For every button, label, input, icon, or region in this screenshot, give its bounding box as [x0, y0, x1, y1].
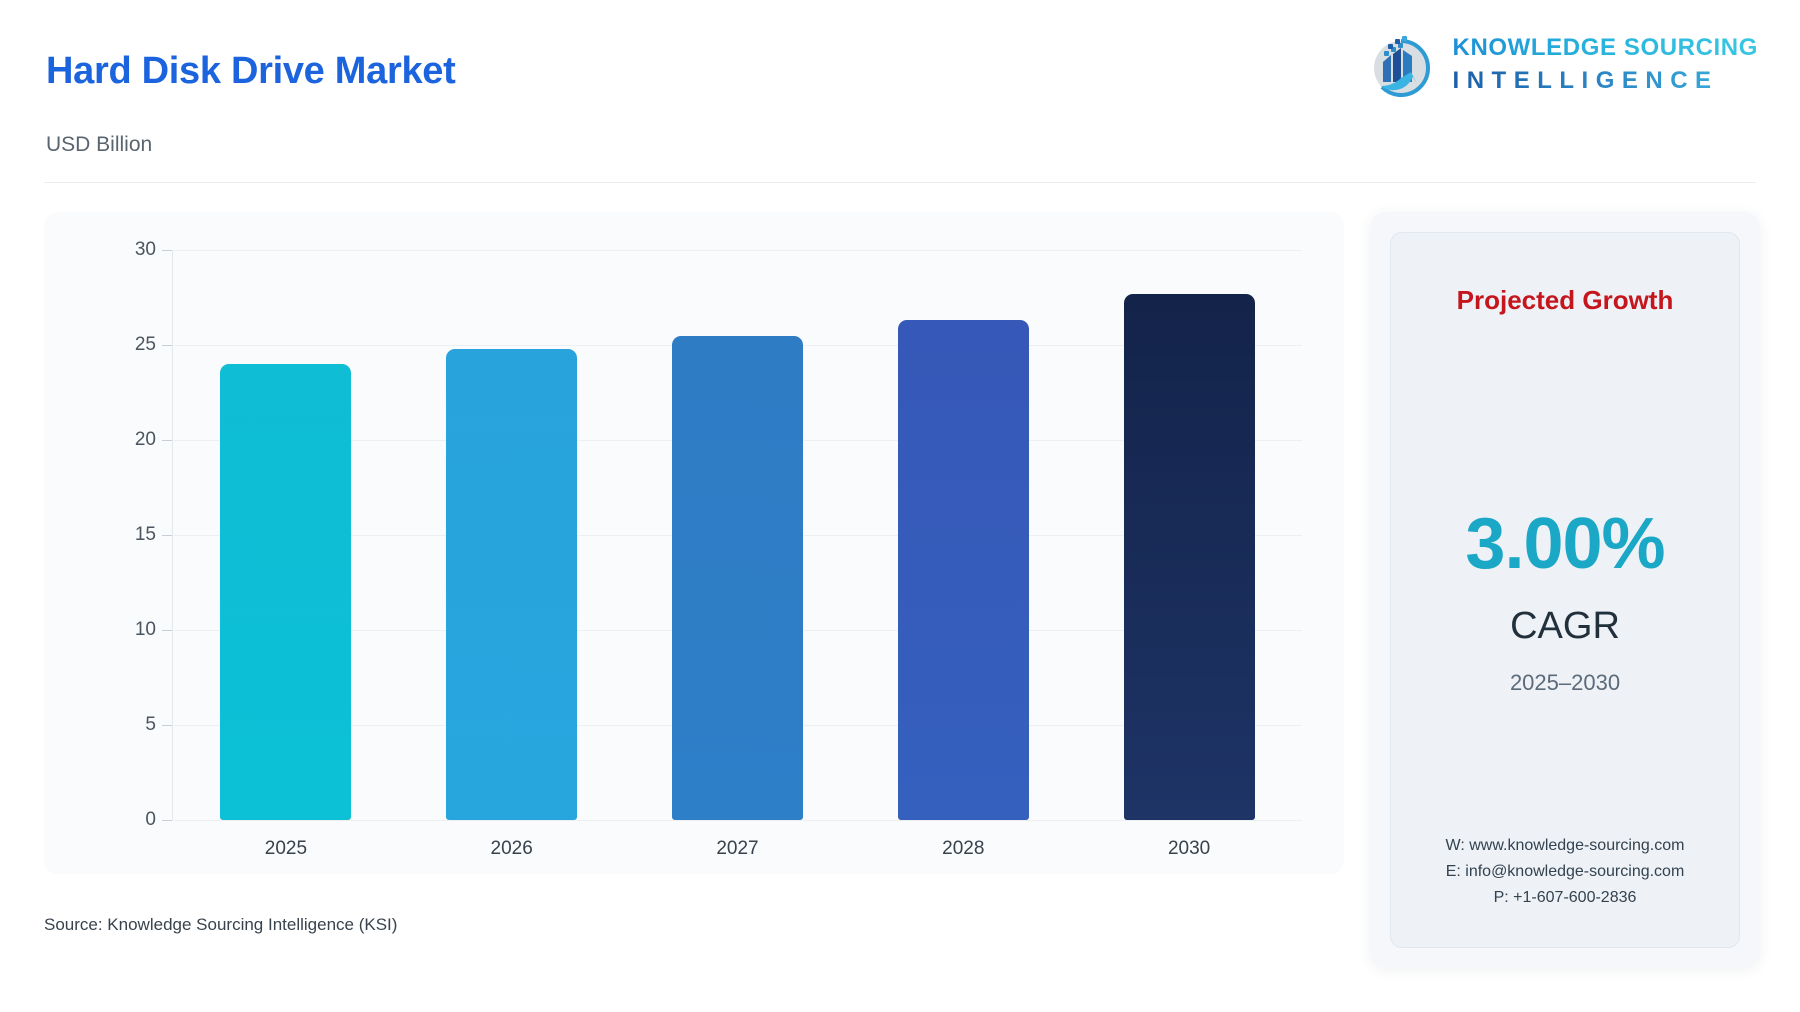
header-divider [44, 182, 1756, 183]
projected-growth-panel: Projected Growth 3.00% CAGR 2025–2030 W:… [1370, 212, 1760, 968]
y-tick-label: 30 [110, 239, 156, 261]
logo-wordmark: KNOWLEDGE SOURCING INTELLIGENCE [1453, 36, 1758, 93]
panel-title: Projected Growth [1391, 285, 1739, 316]
source-note: Source: Knowledge Sourcing Intelligence … [44, 915, 397, 935]
panel-inner-card: Projected Growth 3.00% CAGR 2025–2030 W:… [1390, 232, 1740, 948]
y-tick-label: 10 [110, 619, 156, 641]
contact-phone[interactable]: P: +1-607-600-2836 [1391, 885, 1739, 911]
x-axis-label-2025: 2025 [173, 838, 399, 860]
y-tick-mark [162, 250, 172, 251]
y-tick-label: 5 [110, 714, 156, 736]
bar-slot: 2028 [850, 250, 1076, 820]
logo-line-intelligence: INTELLIGENCE [1453, 69, 1758, 93]
cagr-label: CAGR [1391, 605, 1739, 648]
page-title: Hard Disk Drive Market [46, 50, 455, 93]
x-axis-label-2030: 2030 [1076, 838, 1302, 860]
bar-2030[interactable] [1124, 294, 1255, 820]
x-axis-label-2028: 2028 [850, 838, 1076, 860]
contact-email[interactable]: E: info@knowledge-sourcing.com [1391, 859, 1739, 885]
header: Hard Disk Drive Market USD Billion [0, 0, 1800, 190]
bar-slot: 2026 [399, 250, 625, 820]
y-tick-mark [162, 535, 172, 536]
cagr-value: 3.00% [1391, 503, 1739, 585]
knowledge-sourcing-globe-bars-icon [1367, 28, 1439, 100]
bar-2027[interactable] [672, 336, 803, 821]
y-tick-label: 15 [110, 524, 156, 546]
bar-2028[interactable] [898, 320, 1029, 820]
y-tick-mark [162, 630, 172, 631]
y-tick-label: 20 [110, 429, 156, 451]
logo-line-knowledge-sourcing: KNOWLEDGE SOURCING [1453, 36, 1758, 60]
company-logo: KNOWLEDGE SOURCING INTELLIGENCE [1367, 28, 1758, 100]
bar-slot: 2025 [173, 250, 399, 820]
contact-block: W: www.knowledge-sourcing.com E: info@kn… [1391, 833, 1739, 911]
y-tick-mark [162, 345, 172, 346]
chart-card: 051015202530 20252026202720282030 [44, 212, 1344, 874]
forecast-period: 2025–2030 [1391, 670, 1739, 696]
x-axis-label-2027: 2027 [625, 838, 851, 860]
y-tick-label: 0 [110, 809, 156, 831]
bar-2025[interactable] [220, 364, 351, 820]
bar-2026[interactable] [446, 349, 577, 820]
bar-slot: 2027 [625, 250, 851, 820]
infographic-page: Hard Disk Drive Market USD Billion [0, 0, 1800, 1012]
bars-group: 20252026202720282030 [173, 250, 1302, 820]
y-tick-mark [162, 820, 172, 821]
x-axis-label-2026: 2026 [399, 838, 625, 860]
y-tick-mark [162, 440, 172, 441]
page-subtitle: USD Billion [46, 133, 152, 157]
gridline [172, 820, 1302, 821]
bar-chart-plot: 051015202530 20252026202720282030 [132, 250, 1302, 820]
bar-slot: 2030 [1076, 250, 1302, 820]
contact-website[interactable]: W: www.knowledge-sourcing.com [1391, 833, 1739, 859]
y-tick-label: 25 [110, 334, 156, 356]
y-tick-mark [162, 725, 172, 726]
